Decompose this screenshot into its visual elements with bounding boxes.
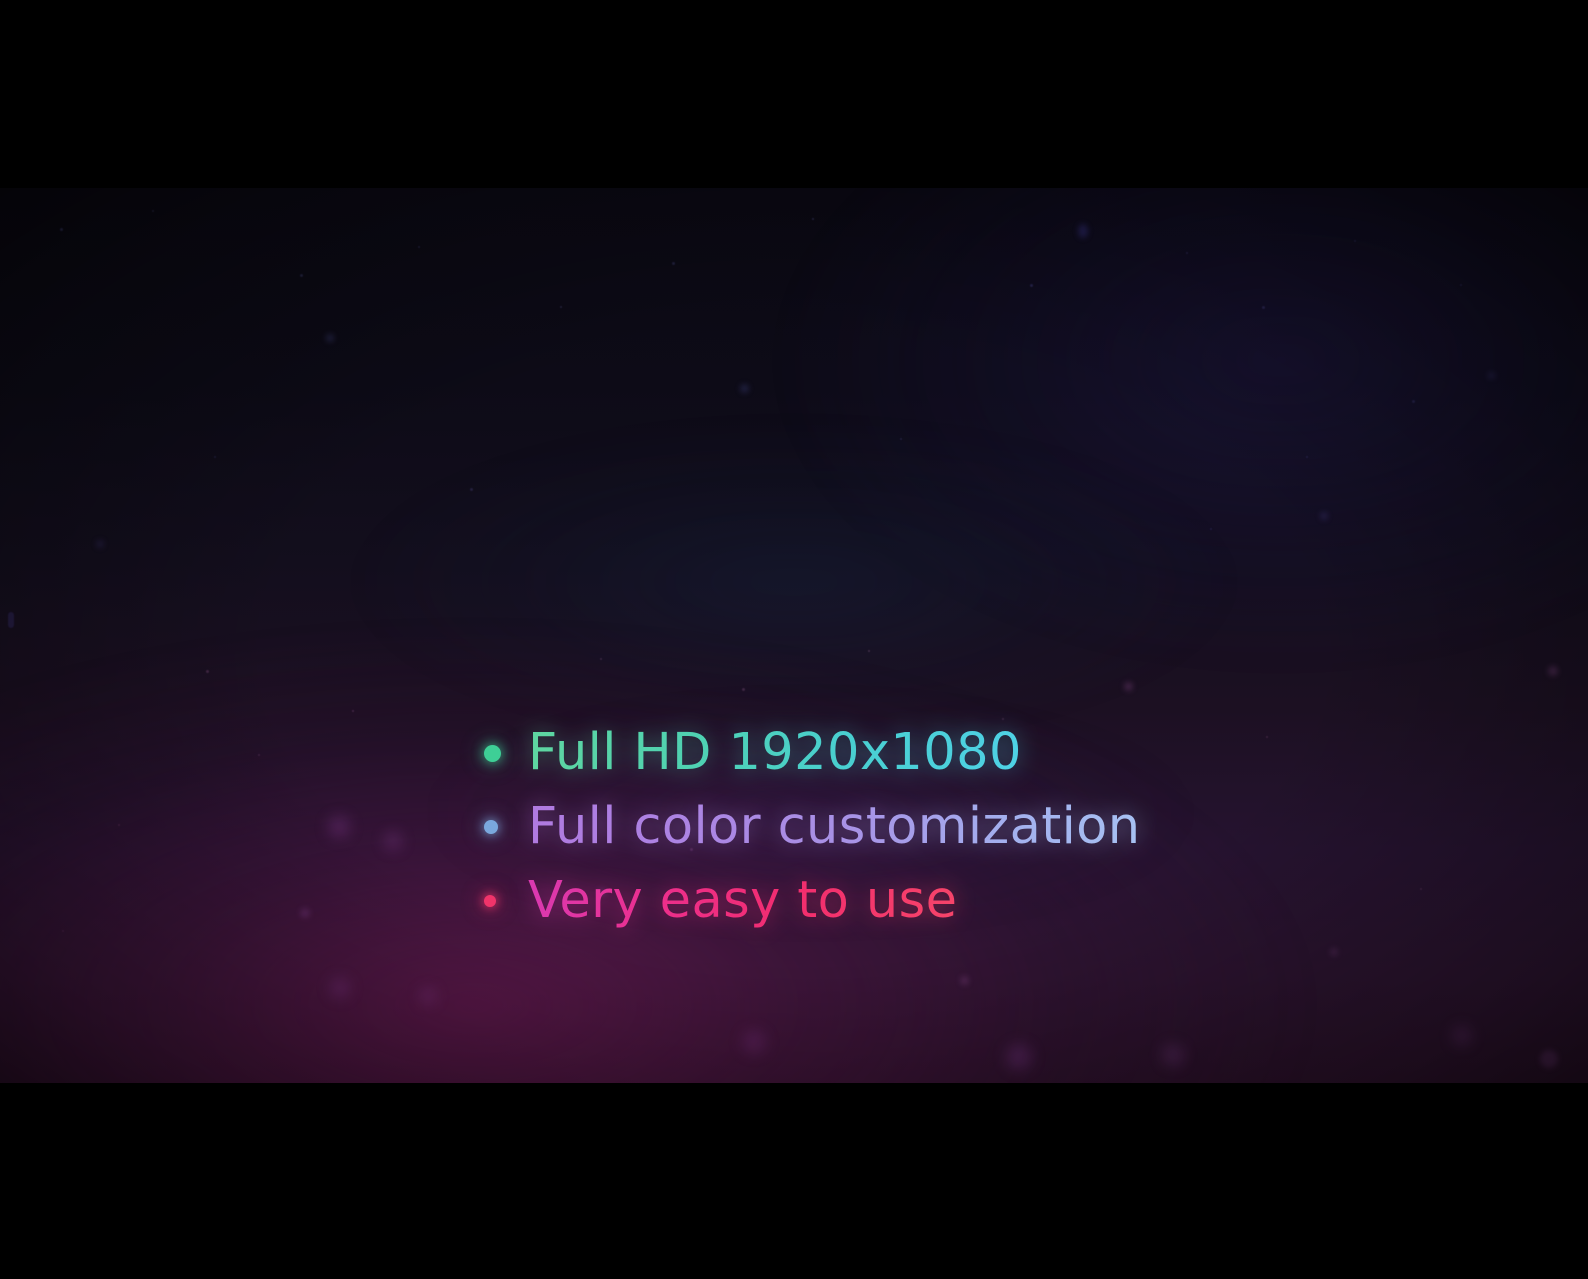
feature-text-stack: Full HD 1920x1080 Full HD 1920x1080 — [528, 726, 1022, 780]
feature-label: Full color customization — [528, 797, 1141, 856]
bullet-dot-icon — [484, 820, 528, 834]
feature-list: Full HD 1920x1080 Full HD 1920x1080 Full… — [484, 716, 1141, 938]
feature-label: Very easy to use — [528, 871, 957, 930]
background-vignette — [0, 188, 1588, 1083]
feature-item-easy-to-use[interactable]: Very easy to use Very easy to use — [484, 864, 1141, 938]
video-frame: Full HD 1920x1080 Full HD 1920x1080 Full… — [0, 188, 1588, 1083]
bullet-dot-icon — [484, 745, 528, 762]
bullet-dot-icon — [484, 895, 528, 907]
feature-text-stack: Full color customization Full color cust… — [528, 800, 1141, 854]
video-stage: Full HD 1920x1080 Full HD 1920x1080 Full… — [0, 0, 1588, 1279]
feature-text-stack: Very easy to use Very easy to use — [528, 874, 957, 928]
feature-item-full-hd[interactable]: Full HD 1920x1080 Full HD 1920x1080 — [484, 716, 1141, 790]
feature-label: Full HD 1920x1080 — [528, 723, 1022, 782]
feature-item-color-customization[interactable]: Full color customization Full color cust… — [484, 790, 1141, 864]
letterbox-bar-bottom — [0, 1083, 1588, 1279]
letterbox-bar-top — [0, 0, 1588, 188]
